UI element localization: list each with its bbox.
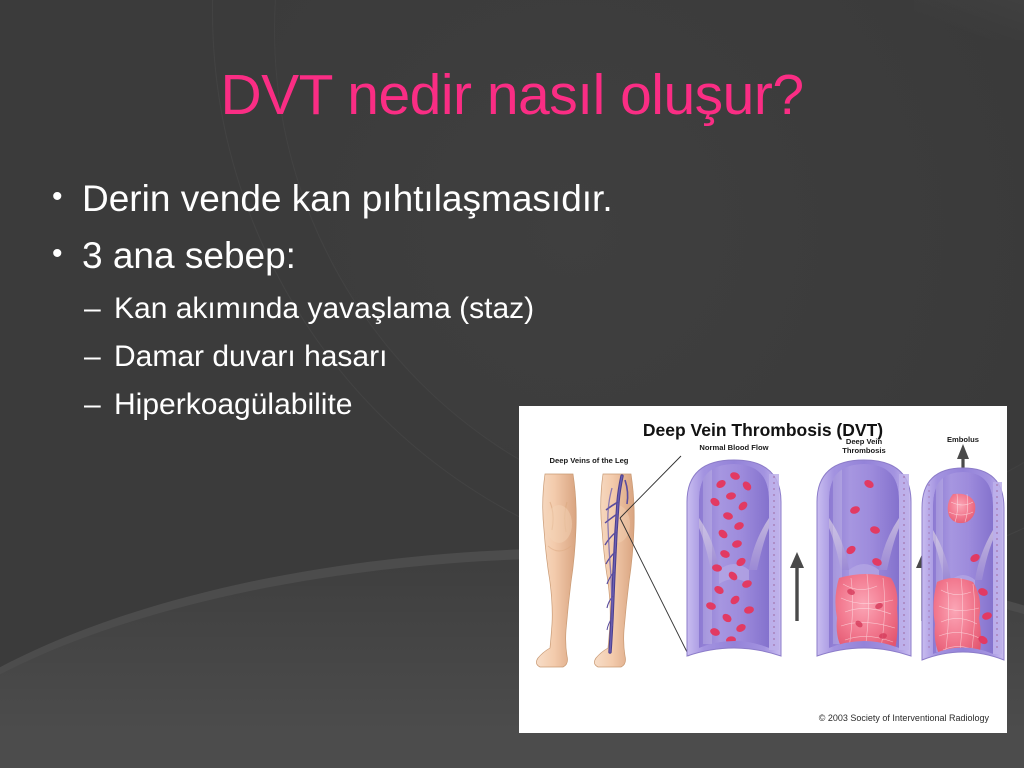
bullet-text: Derin vende kan pıhtılaşmasıdır.: [82, 178, 613, 219]
panel-label-embolus-text: Embolus: [947, 435, 979, 444]
diagram-credit-text: © 2003 Society of Interventional Radiolo…: [819, 713, 990, 723]
panel-label-dvt-line2-text: Thrombosis: [842, 446, 885, 455]
bullet-text: 3 ana sebep:: [82, 235, 296, 276]
sub-bullet-marker: –: [84, 294, 101, 324]
sub-bullet-text: Damar duvarı hasarı: [114, 340, 387, 373]
sub-bullet-text: Hiperkoagülabilite: [114, 388, 352, 421]
sub-bullet-marker: –: [84, 390, 101, 420]
panel-label-normal-flow-text: Normal Blood Flow: [699, 443, 768, 452]
sub-bullet-item-1: – Kan akımında yavaşlama (staz): [44, 294, 824, 324]
thrombus-clot: [835, 574, 897, 650]
background-corner-highlight: [914, 0, 1024, 40]
vein-panel-thrombosis: Deep Vein Thrombosis: [817, 437, 911, 656]
vein-panel-normal-flow: Normal Blood Flow: [687, 443, 781, 656]
sub-bullet-marker: –: [84, 342, 101, 372]
dvt-diagram-image: Deep Vein Thrombosis (DVT) Deep Veins of…: [519, 406, 1007, 733]
slide-title: DVT nedir nasıl oluşur?: [0, 64, 1024, 127]
panel-label-dvt-line1-text: Deep Vein: [846, 437, 883, 446]
slide-canvas: DVT nedir nasıl oluşur? • Derin vende ka…: [0, 0, 1024, 768]
bullet-marker: •: [52, 237, 63, 272]
leg-label-text: Deep Veins of the Leg: [550, 456, 629, 465]
bullet-item-1: • Derin vende kan pıhtılaşmasıdır.: [44, 180, 824, 217]
bullet-marker: •: [52, 180, 63, 215]
sub-bullet-text: Kan akımında yavaşlama (staz): [114, 292, 534, 325]
bullet-item-2: • 3 ana sebep:: [44, 237, 824, 274]
sub-bullet-item-2: – Damar duvarı hasarı: [44, 342, 824, 372]
slide-body: • Derin vende kan pıhtılaşmasıdır. • 3 a…: [44, 180, 824, 438]
residual-thrombus: [933, 578, 981, 658]
